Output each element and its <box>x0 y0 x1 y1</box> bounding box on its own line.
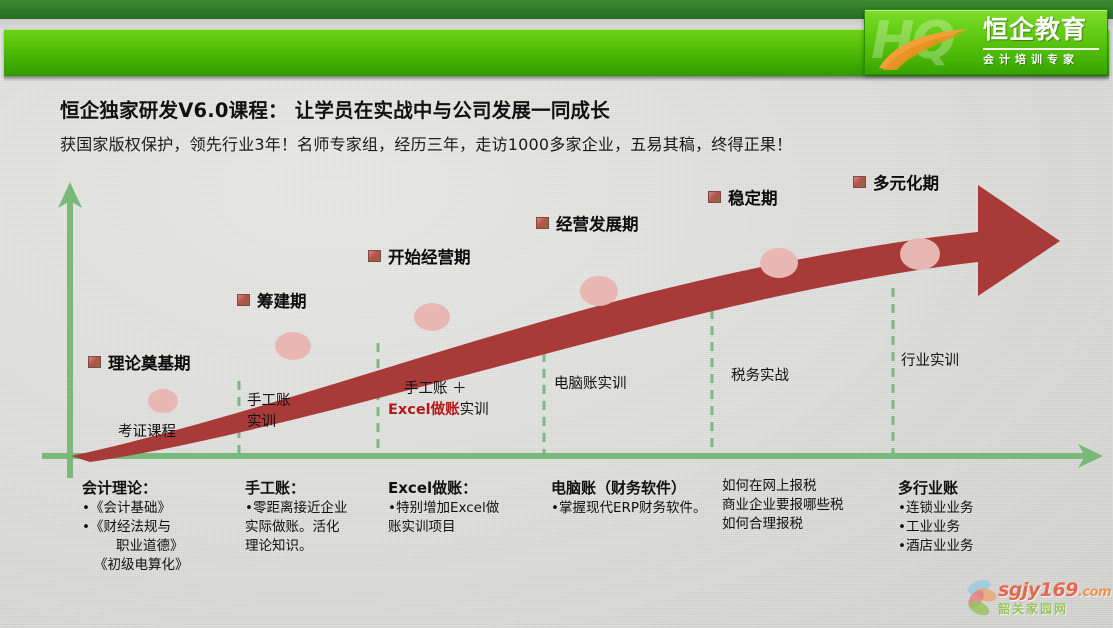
track-caption-tail: 实训 <box>460 402 489 418</box>
bottom-block-item: 理论知识。 <box>245 537 347 556</box>
bottom-block-heading: 电脑账（财务软件） <box>551 479 707 498</box>
site-watermark: sgjy169.com 韶关家园网 <box>968 575 1108 623</box>
slide-canvas: HQ 恒企教育 会计培训专家 恒企独家研发V6.0课程： 让学员在实战中与公司发… <box>0 0 1113 628</box>
stage-label-6[interactable]: 多元化期 <box>853 170 939 194</box>
stage-label-2[interactable]: 筹建期 <box>237 288 307 312</box>
stage-label-text: 经营发展期 <box>556 215 639 234</box>
bottom-block-item: 《初级电算化》 <box>82 556 189 575</box>
stage-label-4[interactable]: 经营发展期 <box>536 211 639 235</box>
marker-5 <box>760 248 798 278</box>
track-caption-2: 手工账 实训 <box>247 391 291 433</box>
page-title: 恒企独家研发V6.0课程： 让学员在实战中与公司发展一同成长 <box>60 94 610 123</box>
x-axis <box>42 444 1103 468</box>
watermark-leaf-icon <box>966 578 1000 618</box>
track-caption-4: 电脑账实训 <box>554 374 627 395</box>
track-caption-line: 考证课程 <box>118 422 176 443</box>
watermark-domain-main: sgjy169 <box>998 579 1078 601</box>
marker-1 <box>148 389 178 413</box>
bottom-block-item: •酒店业业务 <box>898 537 973 556</box>
marker-2 <box>275 332 311 360</box>
bottom-block-item: •掌握现代ERP财务软件。 <box>551 499 707 518</box>
bottom-block-item: 实际做账。活化 <box>245 518 347 537</box>
bottom-block-heading: Excel做账： <box>388 479 499 498</box>
stage-bullet-icon <box>853 176 866 188</box>
track-caption-line: 实训 <box>247 412 291 433</box>
bottom-block-1: 会计理论： •《会计基础》 •《财经法规与 职业道德》 《初级电算化》 <box>82 479 189 575</box>
watermark-cn-name: 韶关家园网 <box>998 600 1068 617</box>
bottom-block-item: •工业业务 <box>898 518 973 537</box>
bottom-block-item: 账实训项目 <box>388 518 499 537</box>
marker-6 <box>900 238 940 270</box>
track-caption-highlight: Excel做账 <box>388 402 460 418</box>
page-subtitle: 获国家版权保护，领先行业3年！名师专家组，经历三年，走访1000多家企业，五易其… <box>60 131 792 155</box>
stage-bullet-icon <box>368 250 381 262</box>
header-drop-shadow <box>4 76 1109 82</box>
bottom-block-item: •《财经法规与 <box>82 518 189 537</box>
bottom-block-3: Excel做账： •特别增加Excel做 账实训项目 <box>388 479 499 537</box>
stage-label-text: 理论奠基期 <box>108 354 191 373</box>
track-caption-5: 税务实战 <box>731 366 789 387</box>
bottom-block-heading: 多行业账 <box>898 479 973 498</box>
logo-swoosh-icon <box>877 26 977 70</box>
bottom-block-item: •特别增加Excel做 <box>388 499 499 518</box>
bottom-block-2: 手工账： •零距离接近企业 实际做账。活化 理论知识。 <box>245 479 347 556</box>
stage-markers <box>148 238 940 413</box>
track-caption-line: 行业实训 <box>901 351 959 372</box>
stage-label-1[interactable]: 理论奠基期 <box>88 350 191 374</box>
stage-label-text: 筹建期 <box>257 292 307 311</box>
bottom-block-heading: 会计理论： <box>82 479 189 498</box>
stage-bullet-icon <box>708 191 721 203</box>
track-caption-line: 手工账 ＋ <box>404 379 489 400</box>
bottom-block-item: 如何合理报税 <box>722 515 844 534</box>
bottom-block-5: 如何在网上报税 商业企业要报哪些税 如何合理报税 <box>722 477 844 534</box>
stage-label-3[interactable]: 开始经营期 <box>368 244 471 268</box>
logo-divider <box>983 48 1099 50</box>
stage-bullet-icon <box>237 294 250 306</box>
watermark-domain-tld: .com <box>1078 585 1111 600</box>
stage-bullet-icon <box>88 356 101 368</box>
bottom-block-4: 电脑账（财务软件） •掌握现代ERP财务软件。 <box>551 479 707 518</box>
track-caption-line: 手工账 <box>247 391 291 412</box>
stage-label-text: 多元化期 <box>873 174 939 193</box>
bottom-block-heading: 手工账： <box>245 479 347 498</box>
stage-label-text: 开始经营期 <box>388 248 471 267</box>
logo-tagline: 会计培训专家 <box>983 51 1101 68</box>
stage-label-text: 稳定期 <box>728 189 778 208</box>
track-caption-1: 考证课程 <box>118 422 176 443</box>
track-caption-3: 手工账 ＋ Excel做账实训 <box>404 379 489 421</box>
marker-4 <box>580 276 618 306</box>
stage-dividers <box>239 288 893 455</box>
track-caption-line-2: Excel做账实训 <box>388 400 489 421</box>
bottom-block-item: 商业企业要报哪些税 <box>722 496 844 515</box>
bottom-block-item: •《会计基础》 <box>82 499 189 518</box>
bottom-block-item: •连锁业业务 <box>898 499 973 518</box>
bottom-block-item: 职业道德》 <box>82 537 189 556</box>
bottom-block-item: •零距离接近企业 <box>245 499 347 518</box>
watermark-domain: sgjy169.com <box>998 579 1111 601</box>
brand-logo[interactable]: HQ 恒企教育 会计培训专家 <box>864 9 1108 75</box>
y-axis <box>58 182 82 478</box>
track-caption-6: 行业实训 <box>901 351 959 372</box>
stage-bullet-icon <box>536 217 549 229</box>
marker-3 <box>414 303 450 331</box>
logo-brand-name: 恒企教育 <box>983 16 1101 44</box>
track-caption-line: 电脑账实训 <box>554 374 627 395</box>
stage-label-5[interactable]: 稳定期 <box>708 185 778 209</box>
bottom-block-6: 多行业账 •连锁业业务 •工业业务 •酒店业业务 <box>898 479 973 556</box>
track-caption-line: 税务实战 <box>731 366 789 387</box>
bottom-block-item: 如何在网上报税 <box>722 477 844 496</box>
